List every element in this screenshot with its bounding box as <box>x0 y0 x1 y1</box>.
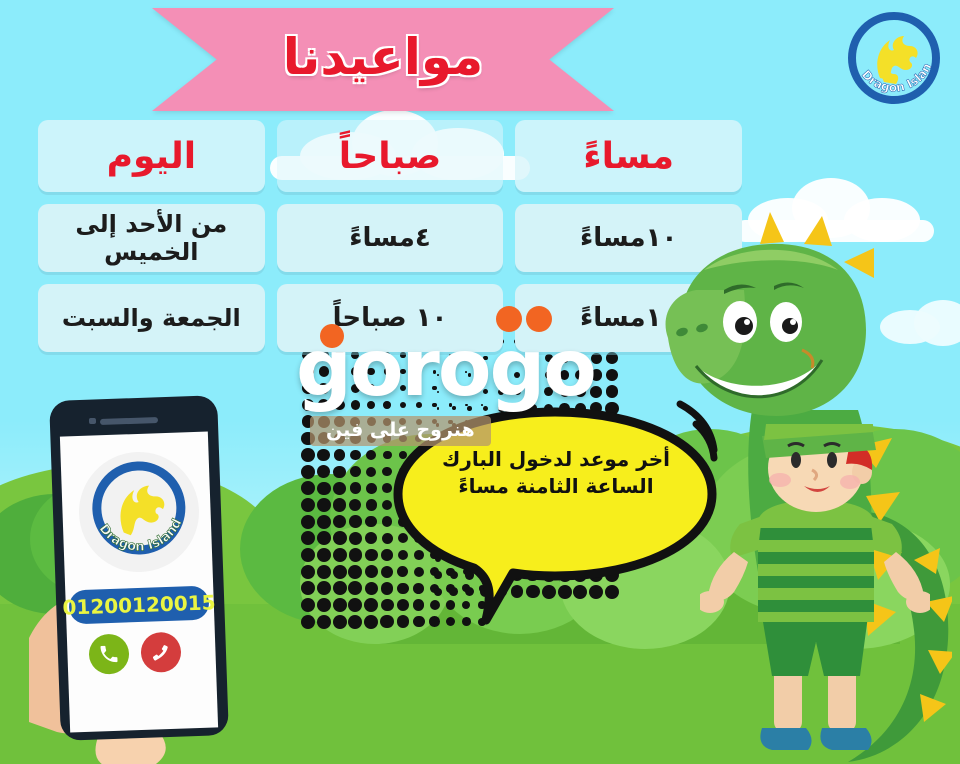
header-morning: صباحاً <box>277 120 504 192</box>
notice-line-2: الساعة الثامنة مساءً <box>418 473 694 500</box>
dragon-island-logo-phone: Dragon Island <box>75 448 203 576</box>
watermark-wordmark: gorogo <box>296 330 656 408</box>
phone-call-icon <box>98 643 121 666</box>
header-evening: مساءً <box>515 120 742 192</box>
watermark: gorogo هنروح على فين <box>296 330 656 450</box>
decline-call-button[interactable] <box>140 632 181 673</box>
phone-hangup-icon <box>150 641 173 664</box>
cell-morning-row1: ٤مساءً <box>277 204 504 272</box>
table-row: ١٠مساءً ٤مساءً من الأحد إلى الخميس <box>38 204 742 272</box>
boy-character <box>700 424 930 764</box>
watermark-dot-3 <box>526 306 552 332</box>
cell-day-row2: الجمعة والسبت <box>38 284 265 352</box>
page-title: مواعيدنا <box>152 8 614 111</box>
watermark-dot-2 <box>496 306 522 332</box>
phone-number-badge: 01200120015 <box>68 586 209 625</box>
poster-title-ribbon: مواعيدنا <box>152 8 614 111</box>
phone-camera-icon <box>89 418 96 424</box>
watermark-dot-1 <box>320 324 344 348</box>
dragon-island-logo-corner: Dragon Island <box>840 8 948 116</box>
phone-call-card: Dragon Island 01200120015 <box>55 398 240 764</box>
notice-text: أخر موعد لدخول البارك الساعة الثامنة مسا… <box>418 446 694 500</box>
poster-canvas: Dragon Island مواعيدنا مساءً صباحاً اليو… <box>0 0 960 764</box>
phone-number: 01200120015 <box>62 590 216 619</box>
call-buttons <box>88 631 193 675</box>
accept-call-button[interactable] <box>88 633 129 674</box>
cell-day-row1: من الأحد إلى الخميس <box>38 204 265 272</box>
notice-line-1: أخر موعد لدخول البارك <box>418 446 694 473</box>
header-day: اليوم <box>38 120 265 192</box>
table-header-row: مساءً صباحاً اليوم <box>38 120 742 192</box>
watermark-tagline: هنروح على فين <box>310 416 491 446</box>
